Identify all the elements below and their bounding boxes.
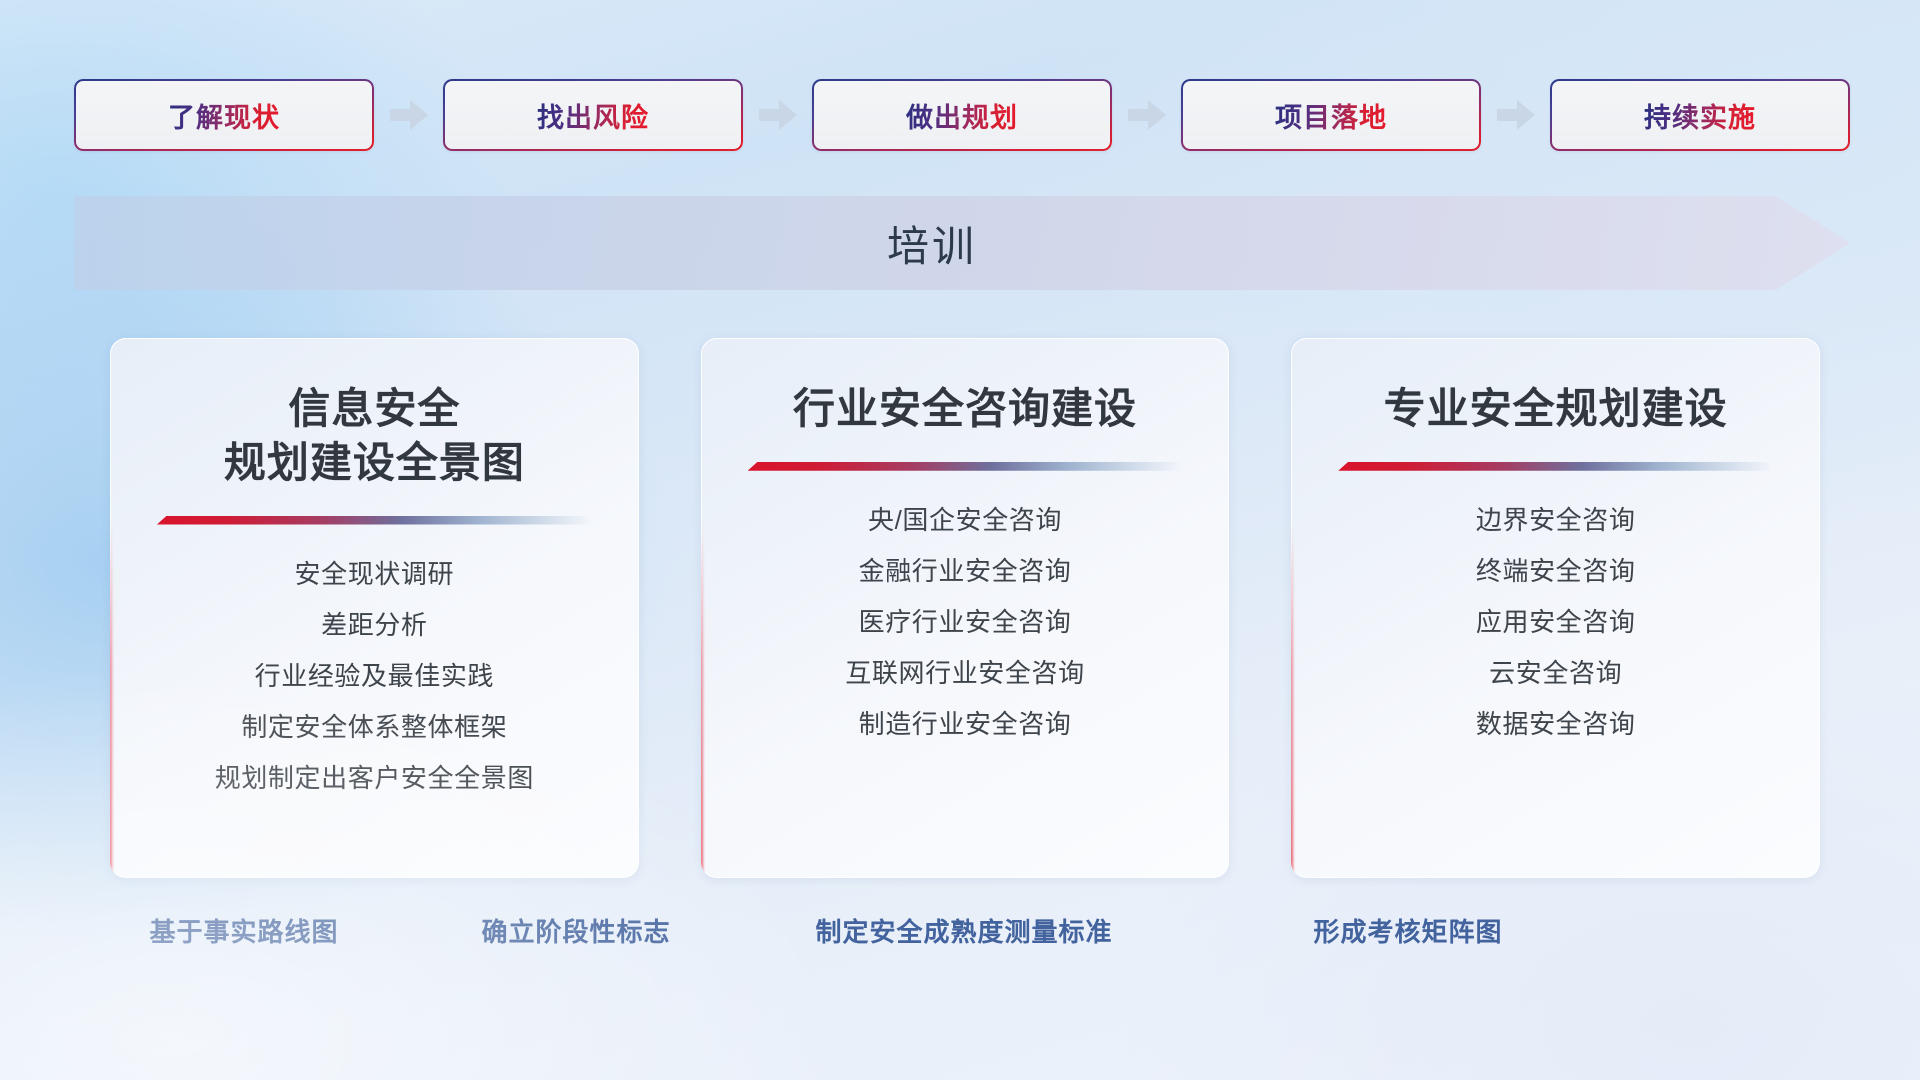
list-item: 规划制定出客户安全全景图 [215, 761, 534, 796]
list-item: 医疗行业安全咨询 [859, 605, 1072, 640]
step-label: 项目落地 [1275, 96, 1387, 135]
footer-label-2: 确立阶段性标志 [481, 912, 670, 949]
list-item: 边界安全咨询 [1476, 503, 1636, 538]
step-item-2[interactable]: 找出风险 [443, 79, 743, 151]
infographic-slide: 了解现状 找出风险 做出规划 项目落地 [0, 0, 1920, 1080]
card-divider [748, 462, 1183, 471]
banner-label: 培训 [74, 196, 1850, 290]
service-card-1[interactable]: 信息安全 规划建设全景图 安全现状调研 差距分析 行业经验及最佳实践 制定安全体… [110, 338, 639, 878]
step-label: 持续实施 [1644, 96, 1756, 135]
list-item: 终端安全咨询 [1476, 554, 1636, 589]
card-divider [1338, 462, 1773, 471]
step-label: 了解现状 [168, 96, 280, 135]
footer-label-1: 基于事实路线图 [149, 912, 338, 949]
list-item: 互联网行业安全咨询 [845, 656, 1084, 691]
step-item-5[interactable]: 持续实施 [1550, 79, 1850, 151]
list-item: 数据安全咨询 [1476, 707, 1636, 742]
card-title: 专业安全规划建设 [1384, 382, 1728, 436]
step-arrow-icon-3 [1112, 79, 1181, 151]
card-list: 安全现状调研 差距分析 行业经验及最佳实践 制定安全体系整体框架 规划制定出客户… [215, 557, 534, 796]
list-item: 制造行业安全咨询 [859, 707, 1072, 742]
card-title: 信息安全 规划建设全景图 [224, 382, 525, 490]
step-item-4[interactable]: 项目落地 [1181, 79, 1481, 151]
training-banner: 培训 [74, 196, 1850, 290]
step-arrow-icon-4 [1481, 79, 1550, 151]
step-label: 做出规划 [906, 96, 1018, 135]
process-step-row: 了解现状 找出风险 做出规划 项目落地 [74, 78, 1850, 152]
step-arrow-icon-2 [743, 79, 812, 151]
list-item: 制定安全体系整体框架 [241, 710, 507, 745]
card-list: 边界安全咨询 终端安全咨询 应用安全咨询 云安全咨询 数据安全咨询 [1476, 503, 1636, 742]
step-item-1[interactable]: 了解现状 [74, 79, 374, 151]
list-item: 金融行业安全咨询 [859, 554, 1072, 589]
step-item-3[interactable]: 做出规划 [812, 79, 1112, 151]
list-item: 差距分析 [321, 608, 427, 643]
card-title: 行业安全咨询建设 [793, 382, 1137, 436]
step-label: 找出风险 [537, 96, 649, 135]
footer-label-3: 制定安全成熟度测量标准 [815, 912, 1112, 949]
list-item: 安全现状调研 [295, 557, 455, 592]
card-divider [157, 516, 592, 525]
list-item: 云安全咨询 [1489, 656, 1622, 691]
footer-label-row: 基于事实路线图 确立阶段性标志 制定安全成熟度测量标准 形成考核矩阵图 [0, 912, 1920, 960]
footer-label-4: 形成考核矩阵图 [1313, 912, 1502, 949]
list-item: 行业经验及最佳实践 [255, 659, 494, 694]
card-list: 央/国企安全咨询 金融行业安全咨询 医疗行业安全咨询 互联网行业安全咨询 制造行… [845, 503, 1084, 742]
service-card-3[interactable]: 专业安全规划建设 边界安全咨询 终端安全咨询 应用安全咨询 云安全咨询 数据安全… [1291, 338, 1820, 878]
step-arrow-icon-1 [374, 79, 443, 151]
service-card-row: 信息安全 规划建设全景图 安全现状调研 差距分析 行业经验及最佳实践 制定安全体… [110, 338, 1820, 878]
list-item: 应用安全咨询 [1476, 605, 1636, 640]
service-card-2[interactable]: 行业安全咨询建设 央/国企安全咨询 金融行业安全咨询 医疗行业安全咨询 互联网行… [701, 338, 1230, 878]
list-item: 央/国企安全咨询 [868, 503, 1062, 538]
